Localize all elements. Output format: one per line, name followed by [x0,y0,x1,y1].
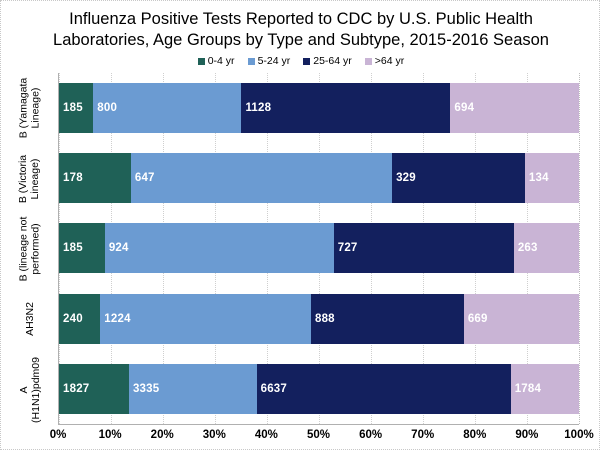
bar-value-label: 924 [105,242,129,254]
legend-item-2[interactable]: 25-64 yr [303,55,352,67]
x-axis-tick-label: 80% [463,428,486,442]
bar-row: 2401224888669 [59,294,579,344]
bar-segment[interactable]: 924 [105,223,334,273]
x-axis-tick-label: 40% [255,428,278,442]
x-axis-tick-label: 10% [99,428,122,442]
category-label-2: B (lineage notperformed) [1,224,58,274]
bar-value-label: 1784 [511,383,541,395]
category-label-1: B (VictoriaLineage) [1,154,58,204]
bar-value-label: 1827 [59,383,89,395]
bar-segment[interactable]: 329 [392,153,525,203]
x-axis-tick-label: 20% [151,428,174,442]
x-axis-tick-label: 70% [411,428,434,442]
bar-segment[interactable]: 727 [334,223,514,273]
bar-value-label: 727 [334,242,358,254]
category-label-text: AH3N2 [23,302,35,336]
bar-value-label: 694 [450,102,474,114]
bar-segment[interactable]: 240 [59,294,100,344]
legend-item-label: 25-64 yr [313,55,352,67]
category-label-0: B (YamagataLineage) [1,83,58,133]
legend-item-1[interactable]: 5-24 yr [248,55,291,67]
bar-row: 178647329134 [59,153,579,203]
legend-item-label: 5-24 yr [258,55,291,67]
bar-segment[interactable]: 800 [93,83,241,133]
bar-segment[interactable]: 3335 [129,364,257,414]
bar-segment[interactable]: 185 [59,83,93,133]
x-axis-tick-label: 60% [359,428,382,442]
bar-value-label: 647 [131,172,155,184]
chart-container: Influenza Positive Tests Reported to CDC… [0,0,600,450]
category-label-text: B (lineage notperformed) [18,217,42,282]
legend-item-0[interactable]: 0-4 yr [198,55,235,67]
chart-legend: 0-4 yr5-24 yr25-64 yr>64 yr [1,55,600,67]
bar-value-label: 888 [311,313,335,325]
category-label-4: A(H1N1)pdm09 [1,365,58,415]
bar-segment[interactable]: 1224 [100,294,311,344]
bar-value-label: 1224 [100,313,130,325]
bar-segment[interactable]: 1784 [511,364,579,414]
plot-area: 1858001128694178647329134185924727263240… [58,73,579,425]
chart-title-line-1: Influenza Positive Tests Reported to CDC… [1,9,600,30]
legend-item-3[interactable]: >64 yr [365,55,404,67]
bar-segment[interactable]: 1827 [59,364,129,414]
bar-value-label: 185 [59,242,83,254]
bar-segment[interactable]: 1128 [241,83,450,133]
x-axis-tick-label: 100% [564,428,593,442]
legend-item-label: 0-4 yr [208,55,235,67]
bar-row: 1858001128694 [59,83,579,133]
bar-value-label: 669 [464,313,488,325]
bar-segment[interactable]: 263 [514,223,579,273]
bar-value-label: 263 [514,242,538,254]
x-axis-tick-label: 90% [515,428,538,442]
bar-value-label: 134 [525,172,549,184]
chart-title: Influenza Positive Tests Reported to CDC… [1,9,600,51]
legend-swatch-icon [198,58,205,65]
category-label-3: AH3N2 [1,294,58,344]
stacked-bars: 1858001128694178647329134185924727263240… [59,73,579,424]
bar-segment[interactable]: 185 [59,223,105,273]
bar-segment[interactable]: 694 [450,83,579,133]
legend-swatch-icon [365,58,372,65]
value-axis-labels: 0%10%20%30%40%50%60%70%80%90%100% [58,428,579,446]
bar-value-label: 329 [392,172,416,184]
x-axis-tick-label: 50% [307,428,330,442]
bar-value-label: 6637 [257,383,287,395]
category-label-text: B (VictoriaLineage) [18,154,42,202]
category-label-text: A(H1N1)pdm09 [18,357,42,423]
bar-value-label: 240 [59,313,83,325]
gridline-100 [579,73,580,424]
bar-value-label: 1128 [241,102,271,114]
bar-row: 1827333566371784 [59,364,579,414]
bar-value-label: 178 [59,172,83,184]
bar-value-label: 3335 [129,383,159,395]
bar-segment[interactable]: 888 [311,294,464,344]
bar-segment[interactable]: 134 [525,153,579,203]
bar-segment[interactable]: 178 [59,153,131,203]
legend-swatch-icon [248,58,255,65]
chart-title-line-2: Laboratories, Age Groups by Type and Sub… [1,30,600,51]
x-axis-tick-label: 0% [50,428,67,442]
x-axis-tick-label: 30% [203,428,226,442]
bar-segment[interactable]: 6637 [257,364,511,414]
legend-swatch-icon [303,58,310,65]
category-label-text: B (YamagataLineage) [18,78,42,139]
bar-value-label: 185 [59,102,83,114]
bar-value-label: 800 [93,102,117,114]
bar-segment[interactable]: 669 [464,294,579,344]
bar-row: 185924727263 [59,223,579,273]
legend-item-label: >64 yr [375,55,404,67]
bar-segment[interactable]: 647 [131,153,392,203]
category-axis-labels: B (YamagataLineage)B (VictoriaLineage)B … [1,73,58,425]
